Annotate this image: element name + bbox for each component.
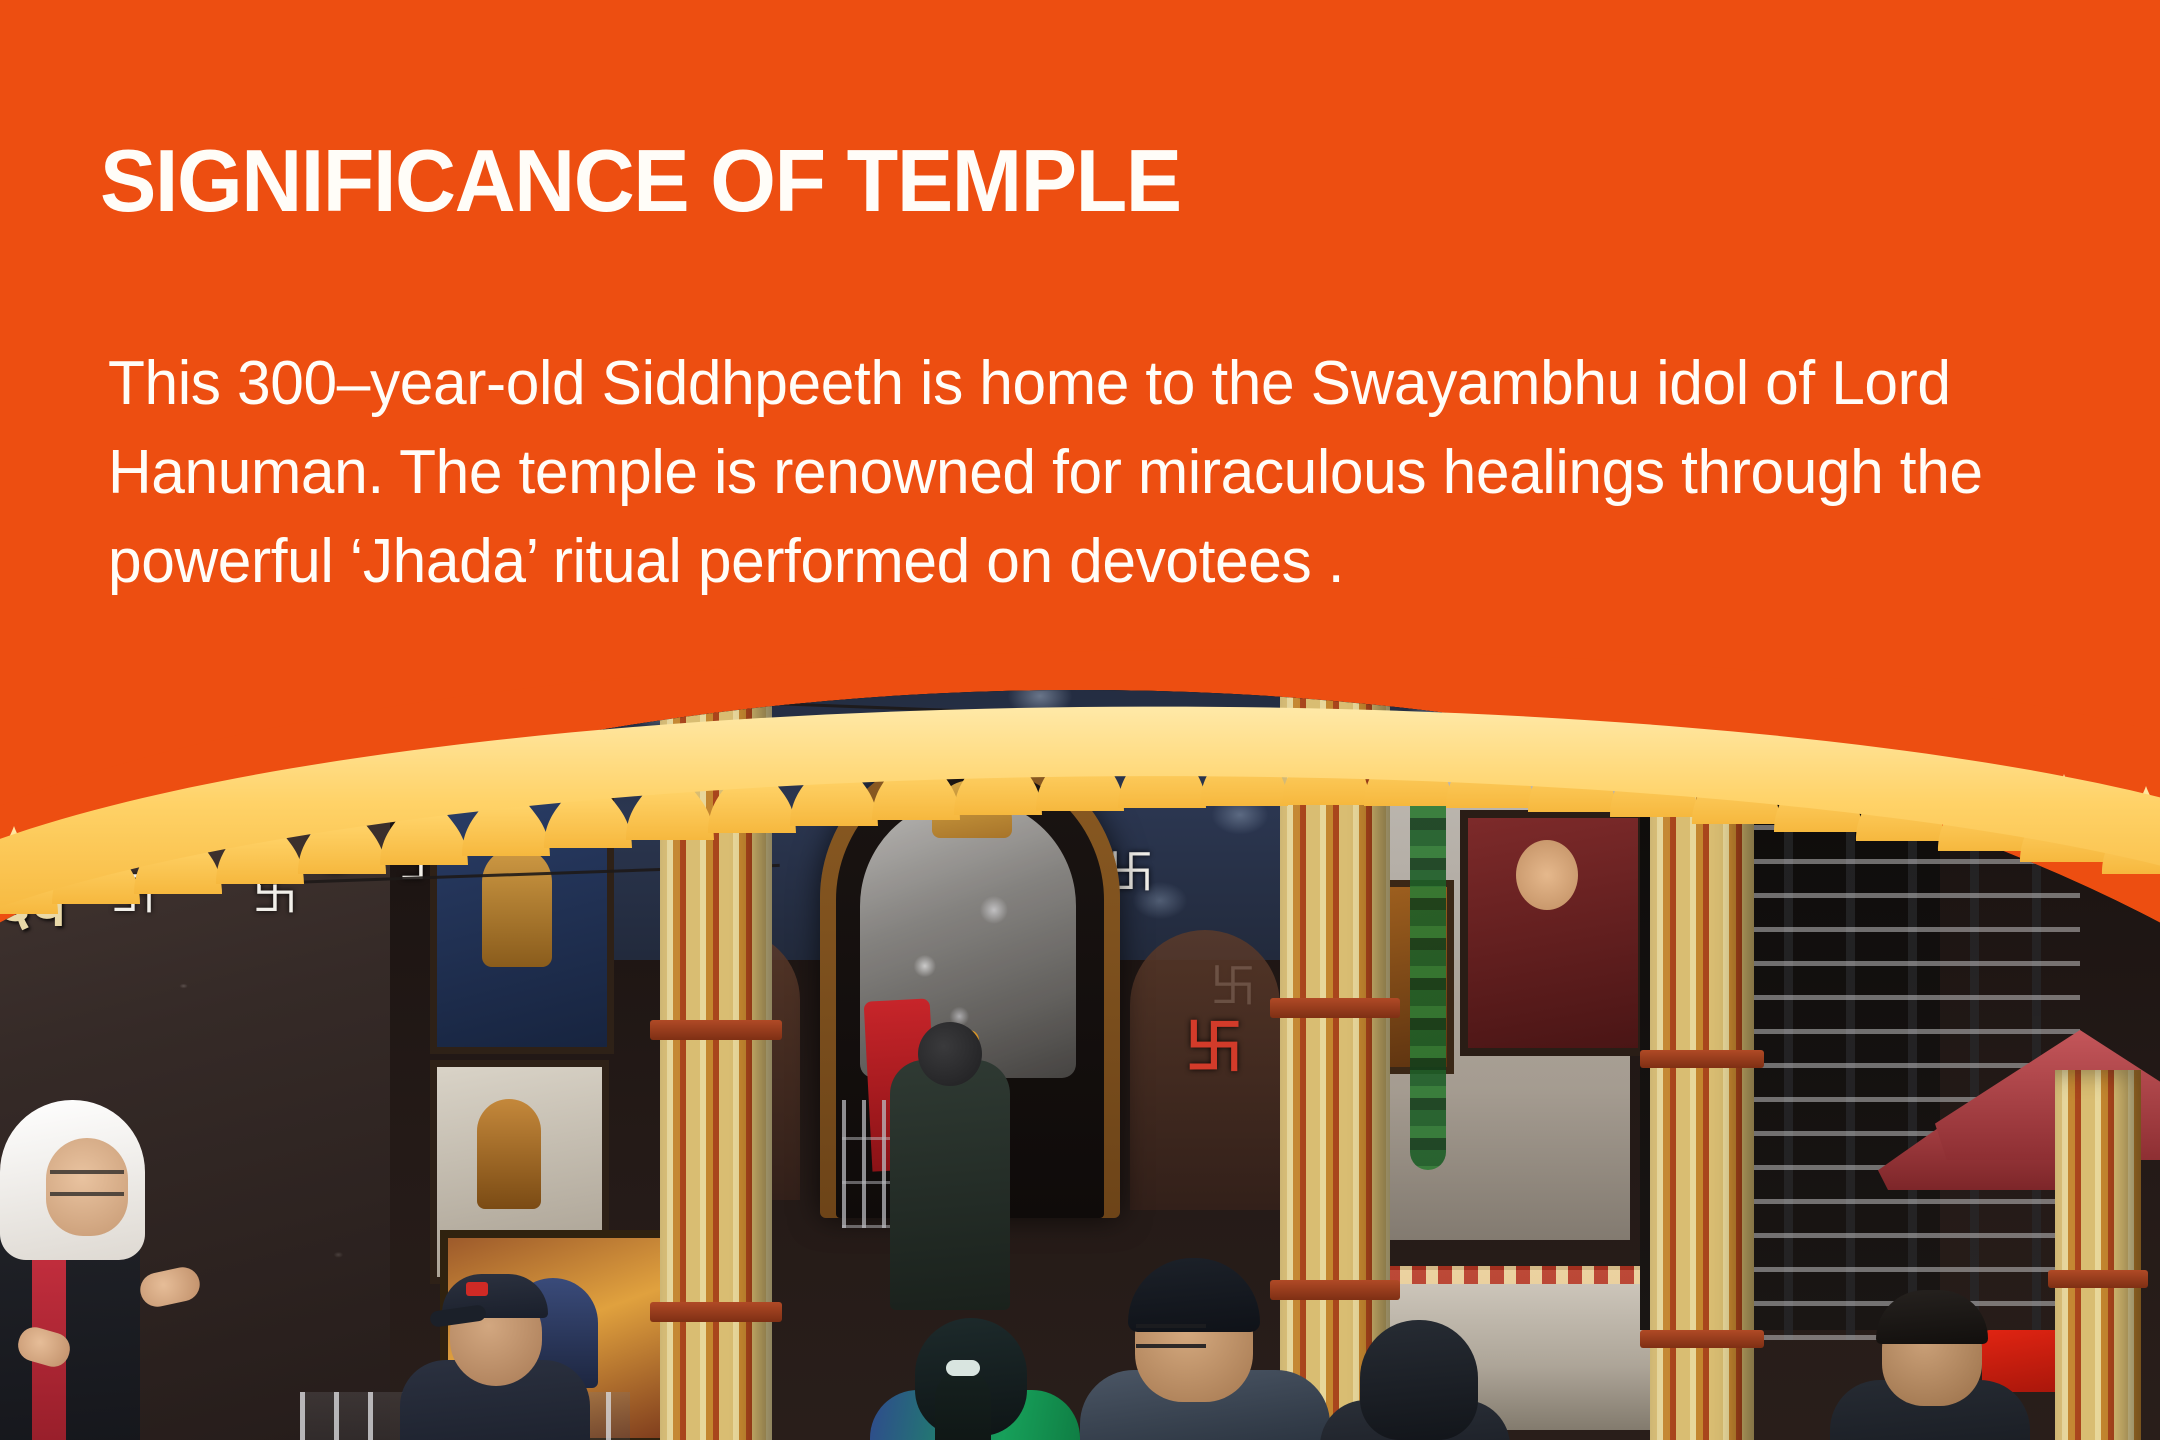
swastika-icon: 卐 — [252, 858, 298, 924]
red-swastika-icon: 卐 — [1185, 1000, 1243, 1084]
pillar-band — [650, 1020, 782, 1040]
glasses-icon — [1136, 1324, 1206, 1348]
ponytail — [935, 1370, 991, 1440]
hood — [1360, 1320, 1478, 1440]
photo-scene: हादेव 卐 卐 卐 卐 卐 卐 卐 卐 卐 卐 — [0, 690, 2160, 1440]
glasses-icon — [50, 1170, 124, 1196]
text-panel: SIGNIFICANCE OF TEMPLE This 300–year-old… — [0, 0, 2160, 760]
pillar-band — [1270, 998, 1400, 1018]
swastika-icon: 卐 — [110, 858, 156, 924]
pillar-band — [1640, 1330, 1764, 1348]
pillar-band — [1270, 1280, 1400, 1300]
photo-arc-clip: हादेव 卐 卐 卐 卐 卐 卐 卐 卐 卐 卐 — [0, 690, 2160, 1440]
head — [918, 1022, 982, 1086]
wall-disc-icon — [308, 820, 358, 870]
wall-disc-icon — [38, 798, 90, 850]
page-title: SIGNIFICANCE OF TEMPLE — [100, 137, 1181, 225]
cap-logo — [466, 1282, 488, 1296]
framed-portrait — [1460, 810, 1646, 1056]
striped-pillar — [1280, 690, 1390, 1440]
striped-pillar — [2055, 1070, 2141, 1440]
pillar-band — [650, 1302, 782, 1322]
temple-photo: हादेव 卐 卐 卐 卐 卐 卐 卐 卐 卐 卐 — [0, 690, 2160, 1440]
hair-tie — [946, 1360, 980, 1376]
green-garland — [1410, 750, 1446, 1170]
mahadev-hindi-sign: हादेव — [0, 860, 68, 944]
framed-art-blue — [430, 790, 614, 1054]
pillar-band — [1640, 1050, 1764, 1068]
body-paragraph: This 300–year-old Siddhpeeth is home to … — [108, 339, 2029, 606]
person-devotee-at-shrine — [890, 1060, 1010, 1310]
pillar-band — [2048, 1270, 2148, 1288]
slide-root: हादेव 卐 卐 卐 卐 卐 卐 卐 卐 卐 卐 — [0, 0, 2160, 1440]
striped-pillar — [660, 690, 772, 1440]
